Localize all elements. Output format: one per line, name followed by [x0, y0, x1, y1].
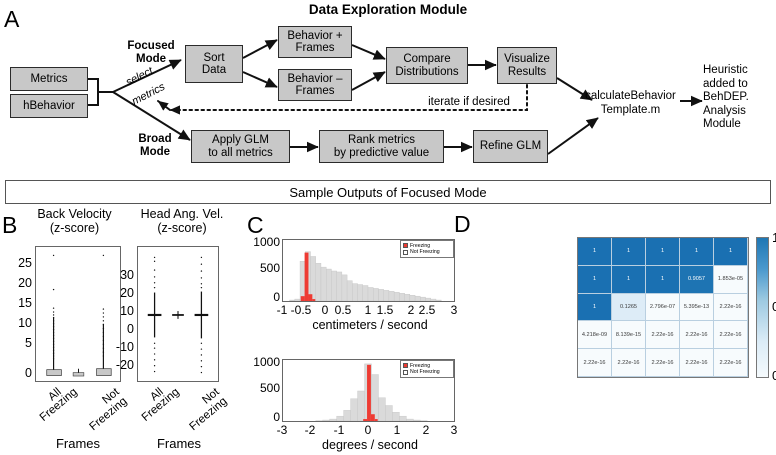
flow-node-metrics[interactable]: Metrics	[10, 67, 88, 91]
colorbar-tick-0point5: 0.5	[772, 299, 776, 314]
heatmap-cell-r4-c0[interactable]: 2.22e-16	[578, 349, 612, 377]
panel-b-letter: B	[2, 212, 17, 239]
panel-c-chart2-xtick-0: -3	[276, 423, 288, 437]
legend-swatch-freezing-2	[403, 363, 408, 368]
heatmap-cell-r1-c0[interactable]: 1	[578, 266, 612, 294]
panel-b-chart2-ytick-1: 20	[102, 286, 134, 300]
heatmap-cell-r1-c2[interactable]: 1	[646, 266, 680, 294]
flow-node-behavior-minus-frames[interactable]: Behavior – Frames	[278, 69, 352, 101]
heatmap-cell-r3-c4[interactable]: 2.22e-16	[714, 321, 748, 349]
colorbar-tick-0: 0	[772, 368, 776, 383]
boxplot-axes-head-angular-velocity	[137, 246, 219, 382]
panel-b-chart1-ytick-0: 25	[4, 256, 32, 270]
panel-b-chart2-ytick-2: 10	[102, 304, 134, 318]
panel-b-chart1-ytick-4: 5	[4, 336, 32, 350]
panel-b-chart2-ytick-0: 30	[102, 268, 134, 282]
flow-node-hbehavior[interactable]: hBehavior	[10, 94, 88, 118]
panel-c-chart1-xtick-4: 1	[362, 303, 374, 317]
panel-c-chart2-xtick-1: -2	[304, 423, 316, 437]
flow-node-sort-data[interactable]: Sort Data	[185, 45, 243, 83]
heatmap-cell-r3-c1[interactable]: 8.139e-15	[612, 321, 646, 349]
heatmap-cell-r0-c1[interactable]: 1	[612, 238, 646, 266]
panel-c-chart2-xtick-2: -1	[333, 423, 345, 437]
panel-c-chart2-legend: Freezing Not Freezing	[400, 360, 454, 378]
legend-label-not-freezing-2: Not Freezing	[410, 369, 440, 375]
heatmap-grid[interactable]: 111111110.90571.853e-0510.12652.796e-075…	[577, 237, 749, 378]
flow-node-behavior-plus-frames[interactable]: Behavior + Frames	[278, 26, 352, 58]
panel-b-chart2-ytick-3: 0	[102, 322, 134, 336]
panel-d-letter: D	[454, 211, 471, 238]
panel-c-chart1-xtick-0: -1	[276, 303, 288, 317]
panel-c-chart1-xtick-6: 2	[405, 303, 417, 317]
heatmap-cell-r3-c2[interactable]: 2.22e-16	[646, 321, 680, 349]
legend-item-not-freezing-2: Not Freezing	[403, 369, 451, 375]
sample-outputs-banner: Sample Outputs of Focused Mode	[5, 180, 771, 204]
panel-c-chart1-ytick-0: 1000	[251, 235, 280, 249]
legend-label-not-freezing: Not Freezing	[410, 249, 440, 255]
panel-c-chart1-xtick-7: 2.5	[417, 303, 437, 317]
heatmap-cell-r2-c4[interactable]: 2.22e-16	[714, 294, 748, 322]
panel-c-chart1-xtick-3: 0.5	[333, 303, 353, 317]
panel-b-chart2-ytick-4: -10	[98, 340, 134, 354]
panel-b-chart1-ytick-3: 10	[4, 316, 32, 330]
label-broad-mode: Broad Mode	[124, 133, 186, 158]
heatmap-cell-r4-c1[interactable]: 2.22e-16	[612, 349, 646, 377]
flow-node-visualize-results[interactable]: Visualize Results	[497, 47, 557, 84]
panel-b-chart1-ytick-5: 0	[4, 366, 32, 380]
panel-b-chart1-title: Back Velocity (z-score)	[22, 208, 127, 235]
legend-swatch-freezing	[403, 243, 408, 248]
panel-b-chart1-xtick-not-freezing: Not Freezing	[71, 386, 129, 440]
panel-b-chart1-xlabel: Frames	[33, 436, 123, 451]
heatmap-cell-r1-c4[interactable]: 1.853e-05	[714, 266, 748, 294]
figure-root: Data Exploration Module A	[0, 0, 776, 455]
panel-c-chart2-ytick-0: 1000	[251, 355, 280, 369]
colorbar-tick-1: 1	[772, 230, 776, 245]
boxplot-series-head-angular-velocity	[138, 247, 218, 381]
heatmap-cell-r2-c2[interactable]: 2.796e-07	[646, 294, 680, 322]
heatmap-cell-r0-c4[interactable]: 1	[714, 238, 748, 266]
heatmap-cell-r4-c3[interactable]: 2.22e-16	[680, 349, 714, 377]
panel-b-chart2-title: Head Ang. Vel. (z-score)	[126, 208, 238, 235]
panel-c-histograms: C	[245, 208, 460, 455]
heatmap-cell-r4-c4[interactable]: 2.22e-16	[714, 349, 748, 377]
flow-node-rank-metrics[interactable]: Rank metrics by predictive value	[319, 130, 444, 163]
heatmap-colorbar	[756, 237, 769, 378]
heatmap-cell-r2-c3[interactable]: 5.395e-13	[680, 294, 714, 322]
label-iterate-if-desired: iterate if desired	[414, 96, 524, 109]
label-calculate-behavior-template: calculateBehavior Template.m	[578, 90, 683, 117]
heatmap-cell-r3-c0[interactable]: 4.218e-09	[578, 321, 612, 349]
banner-text: Sample Outputs of Focused Mode	[289, 185, 486, 200]
panel-a-flowchart: Data Exploration Module A	[0, 0, 776, 176]
heatmap-cell-r2-c0[interactable]: 1	[578, 294, 612, 322]
panel-c-chart2-ytick-2: 0	[251, 410, 280, 424]
panel-c-chart1-xtick-5: 1.5	[375, 303, 395, 317]
heatmap-cell-r3-c3[interactable]: 2.22e-16	[680, 321, 714, 349]
label-focused-mode: Focused Mode	[116, 40, 186, 65]
heatmap-cell-r4-c2[interactable]: 2.22e-16	[646, 349, 680, 377]
panel-c-chart1-legend: Freezing Not Freezing	[400, 240, 454, 258]
panel-c-chart2-xtick-4: 1	[391, 423, 403, 437]
panel-d-heatmap: D 111111110.90571.853e-0510.12652.796e-0…	[452, 208, 776, 455]
flow-node-apply-glm[interactable]: Apply GLM to all metrics	[191, 130, 290, 163]
legend-swatch-not-freezing	[403, 250, 408, 255]
panel-c-chart1-ytick-1: 500	[251, 261, 280, 275]
flow-node-compare-distributions[interactable]: Compare Distributions	[386, 47, 468, 84]
legend-swatch-not-freezing-2	[403, 370, 408, 375]
heatmap-cell-r0-c2[interactable]: 1	[646, 238, 680, 266]
heatmap-cell-r1-c3[interactable]: 0.9057	[680, 266, 714, 294]
panel-c-chart2-xtick-3: 0	[362, 423, 374, 437]
panel-c-chart2-xtick-5: 2	[420, 423, 432, 437]
panel-c-chart1-xtick-1: -0.5	[290, 303, 312, 317]
panel-c-chart1-xtick-2: 0	[319, 303, 331, 317]
legend-item-not-freezing: Not Freezing	[403, 249, 451, 255]
panel-c-chart2-xlabel: degrees / second	[290, 438, 450, 452]
panel-b-chart1-ytick-2: 15	[4, 296, 32, 310]
panel-c-chart1-xlabel: centimeters / second	[285, 318, 455, 332]
panel-b-chart2-xlabel: Frames	[134, 436, 224, 451]
panel-b-chart2-ytick-5: -20	[98, 358, 134, 372]
panel-c-chart2-ytick-1: 500	[251, 381, 280, 395]
panel-b-boxplots: B Back Velocity (z-score)	[0, 208, 245, 455]
flow-node-refine-glm[interactable]: Refine GLM	[473, 130, 548, 163]
heatmap-cell-r1-c1[interactable]: 1	[612, 266, 646, 294]
label-heuristic-added: Heuristic added to BehDEP. Analysis Modu…	[703, 64, 773, 132]
heatmap-cell-r0-c3[interactable]: 1	[680, 238, 714, 266]
heatmap-cell-r2-c1[interactable]: 0.1265	[612, 294, 646, 322]
panel-b-chart1-ytick-1: 20	[4, 276, 32, 290]
panel-c-chart1-ytick-2: 0	[251, 290, 280, 304]
heatmap-cell-r0-c0[interactable]: 1	[578, 238, 612, 266]
